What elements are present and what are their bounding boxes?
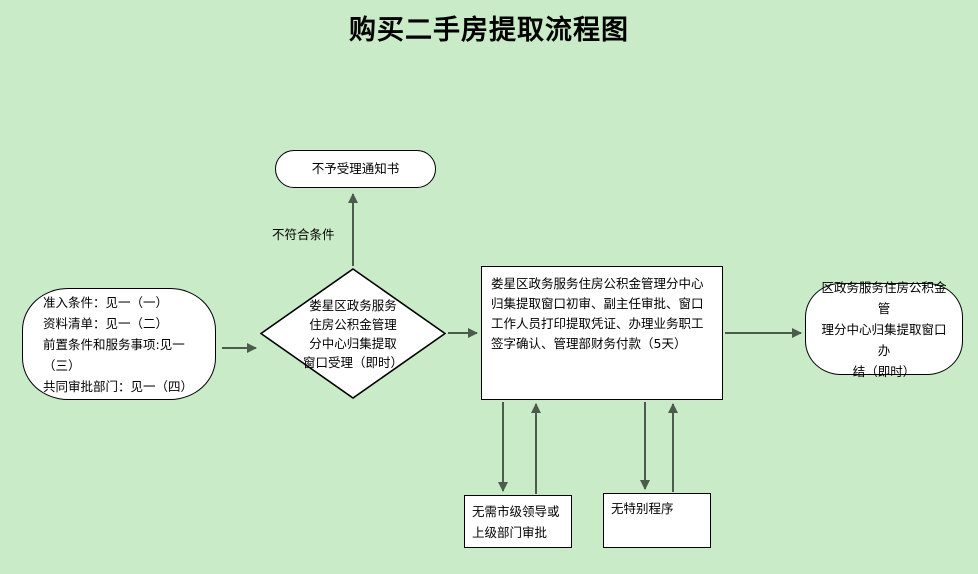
node-note-no-city-approval[interactable]: 无需市级领导或 上级部门审批	[464, 495, 572, 548]
node-note-no-city-approval-label: 无需市级领导或 上级部门审批	[472, 501, 564, 543]
node-reject-notice-label: 不予受理通知书	[312, 161, 400, 177]
node-process-review-label: 娄星区政务服务住房公积金管理分中心归集提取窗口初审、副主任审批、窗口工作人员打印…	[491, 274, 714, 354]
edge-label-not-qualified: 不符合条件	[272, 224, 335, 243]
node-note-no-special-procedure-label: 无特别程序	[611, 499, 703, 519]
node-decision-acceptance-label: 娄星区政务服务 住房公积金管理 分中心归集提取 窗口受理（即时）	[260, 296, 446, 372]
node-process-review[interactable]: 娄星区政务服务住房公积金管理分中心归集提取窗口初审、副主任审批、窗口工作人员打印…	[481, 266, 723, 400]
page-title: 购买二手房提取流程图	[0, 8, 978, 47]
flowchart-canvas: 购买二手房提取流程图 准入条件：见一（一） 资料清单：见一（二） 前置条件和服务…	[0, 0, 978, 574]
node-entry-conditions[interactable]: 准入条件：见一（一） 资料清单：见一（二） 前置条件和服务事项:见一（三） 共同…	[22, 288, 216, 400]
node-note-no-special-procedure[interactable]: 无特别程序	[603, 493, 711, 548]
node-finish-completion[interactable]: 区政务服务住房公积金管 理分中心归集提取窗口办 结（即时）	[805, 283, 963, 375]
node-reject-notice[interactable]: 不予受理通知书	[275, 150, 436, 188]
node-decision-acceptance[interactable]: 娄星区政务服务 住房公积金管理 分中心归集提取 窗口受理（即时）	[260, 268, 446, 399]
node-finish-completion-label: 区政务服务住房公积金管 理分中心归集提取窗口办 结（即时）	[820, 277, 948, 382]
node-entry-conditions-label: 准入条件：见一（一） 资料清单：见一（二） 前置条件和服务事项:见一（三） 共同…	[43, 292, 202, 397]
